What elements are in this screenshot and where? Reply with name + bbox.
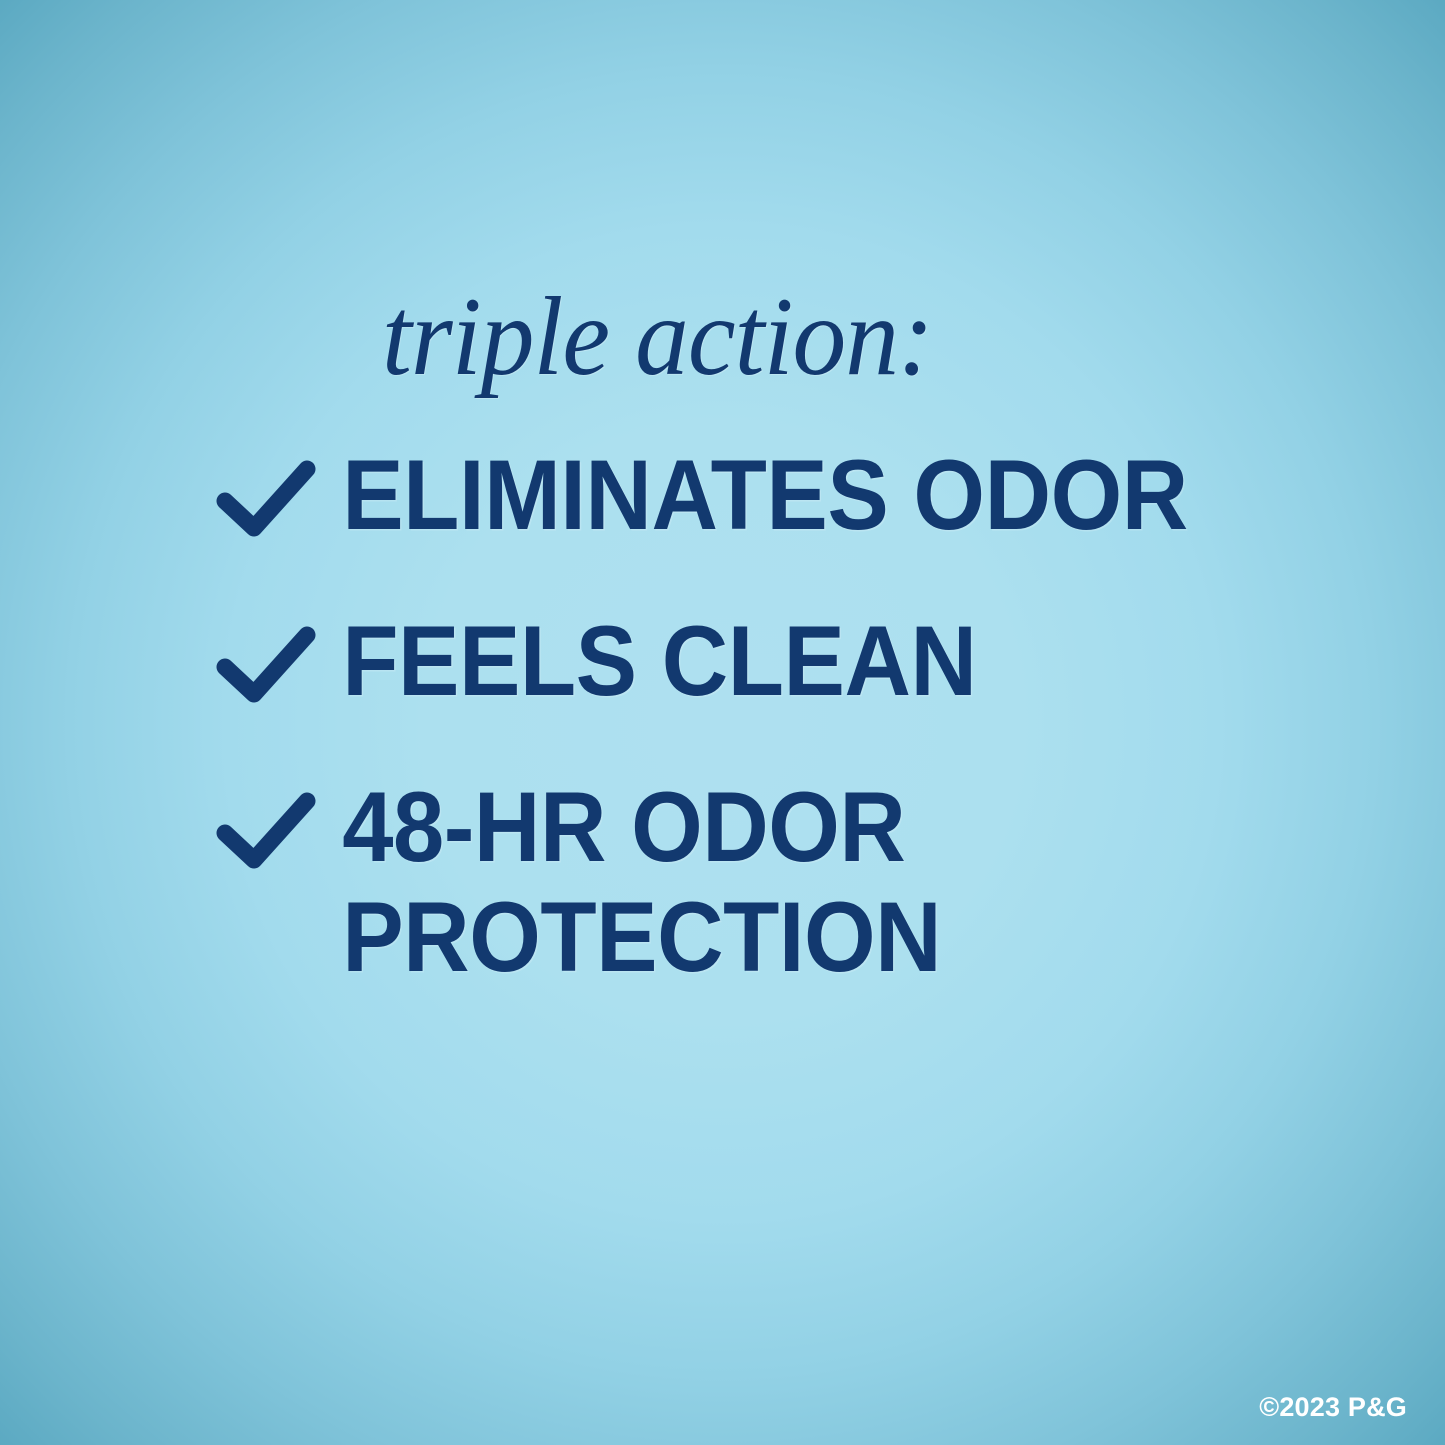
promo-card: triple action: ELIMINATES ODOR FEELS CLE… — [0, 0, 1445, 1445]
page-title: triple action: — [382, 281, 1054, 393]
claim-text: 48-HR ODOR PROTECTION — [0, 772, 1344, 992]
claim-text: ELIMINATES ODOR — [0, 440, 1344, 550]
claims-list: ELIMINATES ODOR FEELS CLEAN 48-HR ODOR P… — [0, 440, 1445, 992]
list-item: FEELS CLEAN — [0, 606, 1445, 716]
list-item: ELIMINATES ODOR — [0, 440, 1445, 550]
copyright-notice: ©2023 P&G — [1259, 1392, 1407, 1423]
list-item: 48-HR ODOR PROTECTION — [0, 772, 1445, 992]
claim-text: FEELS CLEAN — [0, 606, 1344, 716]
